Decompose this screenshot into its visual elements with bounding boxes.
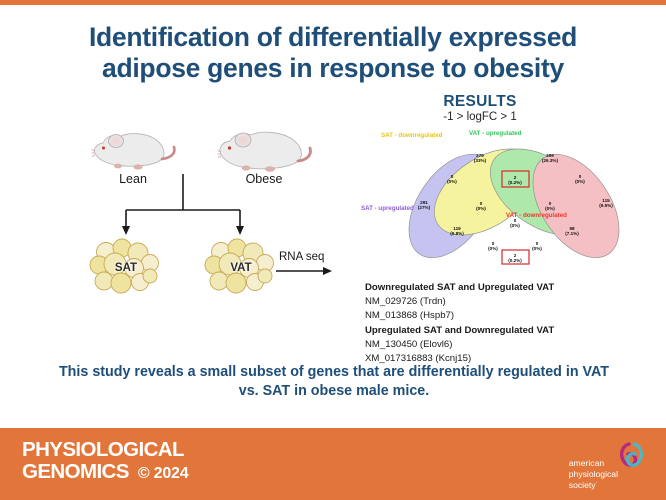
svg-text:(27%): (27%) bbox=[418, 205, 431, 210]
venn-label-sat-up: SAT - upregulated bbox=[361, 205, 414, 212]
svg-text:(0.2%): (0.2%) bbox=[508, 180, 522, 185]
footer-bar: PHYSIOLOGICAL GENOMICS © 2024 american p… bbox=[0, 428, 666, 500]
svg-text:(7.1%): (7.1%) bbox=[565, 231, 579, 236]
svg-text:(26.3%): (26.3%) bbox=[542, 158, 559, 163]
svg-text:(0%): (0%) bbox=[575, 179, 585, 184]
gene-item: NM_029726 (Trdn) bbox=[365, 295, 655, 309]
venn-diagram: 279(33%) 359(26.3%) 291(27%) 115(9.5%) 0… bbox=[374, 126, 654, 266]
gene-item: NM_130450 (Elovl6) bbox=[365, 338, 655, 352]
aps-loop-icon bbox=[616, 440, 646, 474]
svg-text:(0%): (0%) bbox=[488, 246, 498, 251]
top-accent-bar bbox=[0, 0, 666, 5]
aps-line-2: physiological bbox=[569, 469, 618, 480]
gene-group-heading-2: Upregulated SAT and Downregulated VAT bbox=[365, 324, 655, 338]
svg-text:(9.8%): (9.8%) bbox=[450, 231, 464, 236]
venn-label-vat-down: VAT - downregulated bbox=[506, 212, 567, 219]
results-heading: RESULTS bbox=[370, 93, 590, 111]
gene-lists: Downregulated SAT and Upregulated VAT NM… bbox=[365, 281, 655, 366]
gene-group-heading-1: Downregulated SAT and Upregulated VAT bbox=[365, 281, 655, 295]
svg-text:(0%): (0%) bbox=[476, 206, 486, 211]
title-line-2: adipose genes in response to obesity bbox=[28, 53, 638, 84]
gene-item: NM_013868 (Hspb7) bbox=[365, 309, 655, 323]
conclusion-text: This study reveals a small subset of gen… bbox=[58, 363, 610, 402]
journal-name-line-1: PHYSIOLOGICAL bbox=[22, 439, 188, 461]
vat-label: VAT bbox=[203, 262, 279, 274]
svg-text:(0%): (0%) bbox=[447, 179, 457, 184]
aps-wordmark: american physiological society˙ bbox=[569, 458, 618, 491]
aps-line-3: society˙ bbox=[569, 480, 618, 491]
journal-brand: PHYSIOLOGICAL GENOMICS © 2024 bbox=[22, 439, 188, 483]
logfc-threshold: -1 > logFC > 1 bbox=[370, 111, 590, 123]
svg-text:(0.2%): (0.2%) bbox=[508, 258, 522, 263]
svg-text:(0%): (0%) bbox=[510, 223, 520, 228]
aps-line-1: american bbox=[569, 458, 618, 469]
journal-name-line-2: GENOMICS bbox=[22, 461, 129, 483]
aps-logo: american physiological society˙ bbox=[566, 436, 654, 494]
venn-label-sat-down: SAT - downregulated bbox=[381, 132, 442, 139]
title-line-1: Identification of differentially express… bbox=[89, 22, 577, 52]
svg-text:(0%): (0%) bbox=[532, 246, 542, 251]
sat-label: SAT bbox=[88, 262, 164, 274]
rna-seq-label: RNA seq bbox=[279, 251, 324, 263]
svg-text:(9.5%): (9.5%) bbox=[599, 203, 613, 208]
copyright-text: © 2024 bbox=[138, 465, 189, 482]
svg-text:(0%): (0%) bbox=[545, 206, 555, 211]
venn-label-vat-up: VAT - upregulated bbox=[469, 130, 521, 137]
svg-text:(33%): (33%) bbox=[474, 158, 487, 163]
conclusion-line-1: This study reveals a small subset of gen… bbox=[59, 364, 494, 380]
experiment-schematic: Lean Obese bbox=[78, 128, 368, 318]
page-title: Identification of differentially express… bbox=[28, 22, 638, 84]
